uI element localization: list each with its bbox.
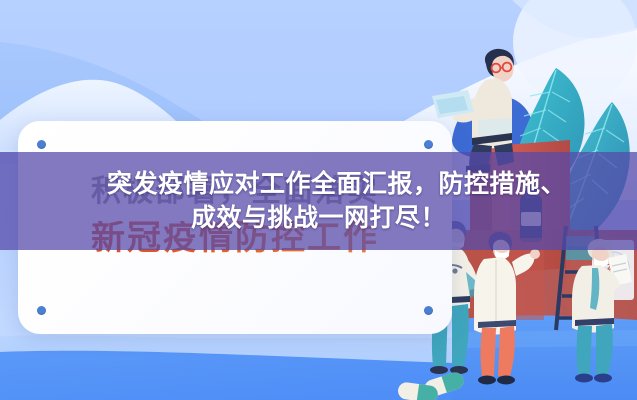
headline-line-1: 突发疫情应对工作全面汇报，防控措施、 <box>0 167 637 201</box>
headline-line-2: 成效与挑战一网打尽！ <box>0 201 637 235</box>
headline-overlay-band: 突发疫情应对工作全面汇报，防控措施、 成效与挑战一网打尽！ <box>0 152 637 250</box>
rivet-top-right-icon <box>424 140 433 149</box>
rivet-bottom-right-icon <box>424 306 433 315</box>
rivet-bottom-left-icon <box>37 306 46 315</box>
rivet-top-left-icon <box>37 140 46 149</box>
poster-canvas: 药 <box>0 0 637 400</box>
